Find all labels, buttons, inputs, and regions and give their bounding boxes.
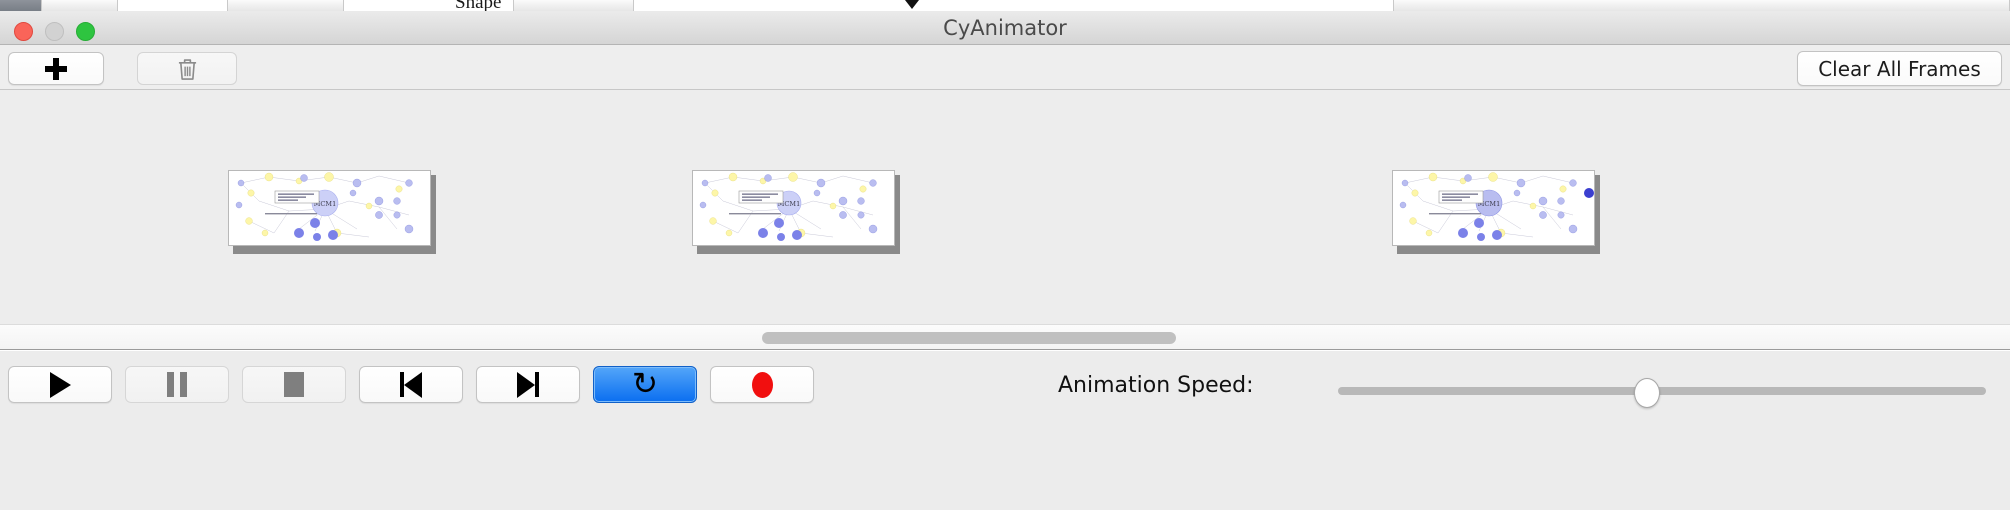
scrollbar-thumb[interactable] — [762, 332, 1176, 344]
bg-segment — [1394, 0, 2010, 11]
slider-thumb[interactable] — [1634, 378, 1660, 408]
trash-icon — [177, 57, 198, 81]
timeline-frame-thumbnail[interactable]: MCM1 — [692, 170, 900, 254]
network-graph-icon: MCM1 — [229, 171, 431, 246]
play-button[interactable] — [8, 366, 112, 403]
frame-network-preview: MCM1 — [692, 170, 895, 246]
animation-speed-label: Animation Speed: — [1058, 373, 1254, 398]
loop-button[interactable]: ↻ — [593, 366, 697, 403]
play-icon — [50, 372, 71, 398]
window-title: CyAnimator — [0, 11, 2010, 45]
cyanimator-window: Shape CyAnimator Clear All Frames — [0, 0, 2010, 510]
pause-button[interactable] — [125, 366, 229, 403]
pause-icon — [167, 372, 187, 397]
slider-track[interactable] — [1338, 387, 1986, 395]
frame-network-preview: MCM1 — [1392, 170, 1595, 246]
timeline-horizontal-scrollbar[interactable] — [0, 324, 2010, 350]
delete-frame-button[interactable] — [137, 52, 237, 85]
bg-segment — [0, 0, 42, 11]
close-button[interactable] — [14, 22, 33, 41]
timeline-panel[interactable]: MCM1 — [0, 90, 2010, 324]
traffic-light-group — [14, 22, 95, 41]
stop-icon — [284, 372, 304, 397]
add-frame-button[interactable] — [8, 52, 104, 85]
background-window-strip: Shape — [0, 0, 2010, 11]
skip-to-start-button[interactable] — [359, 366, 463, 403]
timeline-frame-thumbnail[interactable]: MCM1 — [1392, 170, 1600, 254]
animation-speed-slider[interactable] — [1338, 381, 1986, 403]
timeline-frame-thumbnail[interactable]: MCM1 — [228, 170, 436, 254]
record-button[interactable] — [710, 366, 814, 403]
title-bar: CyAnimator — [0, 11, 2010, 45]
plus-icon — [45, 58, 67, 80]
skip-forward-icon — [517, 372, 539, 398]
frame-network-preview: MCM1 — [228, 170, 431, 246]
zoom-button[interactable] — [76, 22, 95, 41]
loop-icon: ↻ — [632, 369, 658, 400]
minimize-button[interactable] — [45, 22, 64, 41]
playback-control-bar: ↻ Animation Speed: — [0, 351, 2010, 510]
network-graph-icon: MCM1 — [693, 171, 895, 246]
clear-all-frames-button[interactable]: Clear All Frames — [1797, 51, 2002, 86]
bg-segment — [118, 0, 228, 11]
bg-segment — [228, 0, 344, 11]
stop-button[interactable] — [242, 366, 346, 403]
bg-segment — [514, 0, 634, 11]
bg-segment — [634, 0, 1394, 11]
bg-segment — [42, 0, 118, 11]
bg-shape-label: Shape — [455, 0, 501, 11]
bg-cursor-arrow-icon — [905, 0, 919, 9]
frames-toolbar: Clear All Frames — [0, 45, 2010, 90]
network-graph-icon: MCM1 — [1393, 171, 1595, 246]
skip-back-icon — [400, 372, 422, 398]
skip-to-end-button[interactable] — [476, 366, 580, 403]
record-icon — [752, 372, 773, 398]
